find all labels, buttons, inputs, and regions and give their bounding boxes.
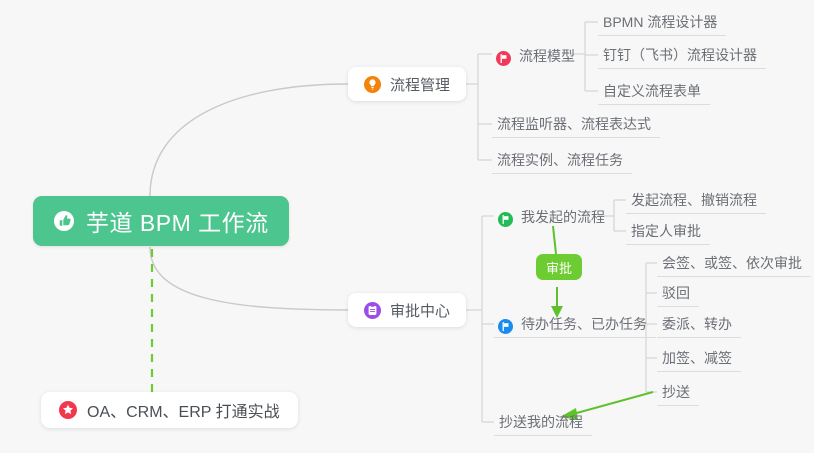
node-approval-center[interactable]: 审批中心	[348, 293, 466, 327]
leaf-delegate-transfer[interactable]: 委派、转办	[657, 310, 741, 338]
leaf-assignee-approval[interactable]: 指定人审批	[626, 217, 710, 245]
link-root-to-process-management	[150, 84, 348, 196]
leaf-cc-to-me-process[interactable]: 抄送我的流程	[494, 408, 592, 436]
leaf-label: 会签、或签、依次审批	[662, 253, 802, 273]
leaf-label: 发起流程、撤销流程	[631, 190, 757, 210]
leaf-reject[interactable]: 驳回	[657, 279, 699, 307]
leaf-label: 抄送	[662, 382, 690, 402]
node-label: 审批中心	[390, 300, 450, 321]
link-root-to-approval-center	[150, 247, 348, 310]
leaf-cc[interactable]: 抄送	[657, 378, 699, 406]
approval-tag[interactable]: 审批	[536, 254, 582, 280]
leaf-label: 流程实例、流程任务	[497, 150, 623, 170]
leaf-label: 抄送我的流程	[499, 412, 583, 432]
flag-icon	[498, 212, 513, 227]
node-my-initiated-process[interactable]: 我发起的流程	[494, 202, 614, 230]
leaf-label: 指定人审批	[631, 221, 701, 241]
flag-icon	[496, 51, 511, 66]
node-label: 我发起的流程	[521, 207, 605, 227]
leaf-label: 流程监听器、流程表达式	[497, 114, 651, 134]
leaf-start-cancel-process[interactable]: 发起流程、撤销流程	[626, 186, 766, 214]
lightbulb-icon	[364, 76, 381, 93]
node-process-model[interactable]: 流程模型	[492, 41, 584, 69]
approval-tag-label: 审批	[546, 258, 572, 277]
root-node[interactable]: 芋道 BPM 工作流	[33, 196, 289, 246]
leaf-label: 委派、转办	[662, 314, 732, 334]
node-todo-done-tasks[interactable]: 待办任务、已办任务	[494, 310, 656, 338]
clipboard-icon	[364, 302, 381, 319]
leaf-dingtalk-designer[interactable]: 钉钉（飞书）流程设计器	[598, 41, 766, 69]
flag-icon	[498, 319, 513, 334]
node-label: 流程模型	[519, 46, 575, 66]
bottom-card-label: OA、CRM、ERP 打通实战	[87, 398, 280, 422]
node-label: 流程管理	[390, 74, 450, 95]
leaf-label: BPMN 流程设计器	[603, 12, 717, 32]
leaf-bpmn-designer[interactable]: BPMN 流程设计器	[598, 8, 726, 36]
leaf-countersign-approval[interactable]: 会签、或签、依次审批	[657, 249, 811, 277]
arrow-approval-upper	[553, 226, 556, 254]
mindmap-canvas: 芋道 BPM 工作流 流程管理 流程模型 BPMN 流程设计器 钉钉（飞书）流程	[0, 0, 814, 453]
star-icon	[59, 401, 77, 419]
leaf-process-instance-task[interactable]: 流程实例、流程任务	[492, 146, 632, 174]
leaf-label: 加签、减签	[662, 348, 732, 368]
leaf-process-listener-expression[interactable]: 流程监听器、流程表达式	[492, 110, 660, 138]
thumbs-up-icon	[53, 210, 75, 232]
node-process-management[interactable]: 流程管理	[348, 67, 466, 101]
leaf-label: 自定义流程表单	[603, 81, 701, 101]
root-label: 芋道 BPM 工作流	[86, 204, 269, 238]
leaf-label: 钉钉（飞书）流程设计器	[603, 45, 757, 65]
leaf-add-remove-sign[interactable]: 加签、减签	[657, 344, 741, 372]
bottom-card-integration[interactable]: OA、CRM、ERP 打通实战	[41, 392, 298, 428]
leaf-label: 驳回	[662, 283, 690, 303]
node-label: 待办任务、已办任务	[521, 314, 647, 334]
leaf-custom-form[interactable]: 自定义流程表单	[598, 77, 710, 105]
